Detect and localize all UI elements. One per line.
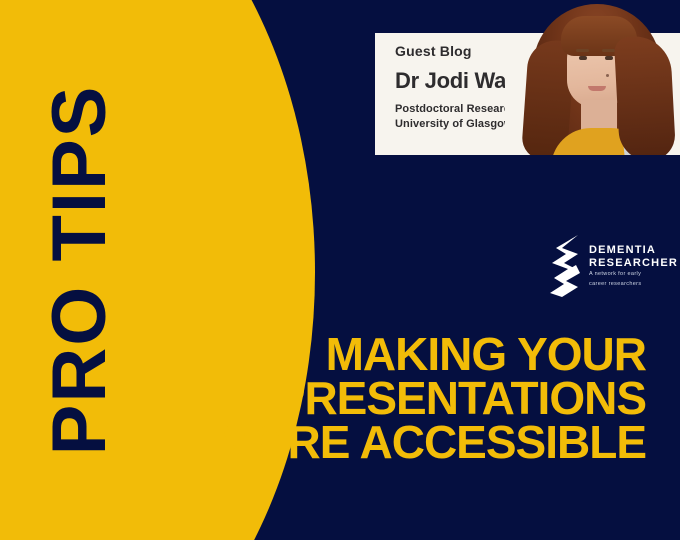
eyebrow-left [576, 49, 589, 52]
headline-block: MAKING YOUR PRESENTATIONS MORE ACCESSIBL… [120, 332, 646, 464]
eye-right [605, 56, 613, 60]
logo-word-dementia: DEMENTIA [589, 244, 678, 257]
eye-left [579, 56, 587, 60]
logo-tagline-line-2: career researchers [589, 280, 678, 288]
logo-tagline-line-1: A network for early [589, 270, 678, 278]
hair-right-shape [614, 35, 676, 155]
guest-author-photo [505, 0, 680, 155]
pro-tips-label: PRO TIPS [42, 85, 118, 456]
portrait-illustration [505, 0, 680, 155]
logo-word-researcher: RESEARCHER [589, 257, 678, 270]
headline-line-2: PRESENTATIONS [120, 376, 646, 420]
eyebrow-right [602, 49, 615, 52]
headline-line-1: MAKING YOUR [120, 332, 646, 376]
pro-tips-blog-banner: PRO TIPS Guest Blog Dr Jodi Watt Postdoc… [0, 0, 680, 540]
headline-line-3: MORE ACCESSIBLE [120, 420, 646, 464]
dementia-researcher-logo[interactable]: DEMENTIA RESEARCHER A network for early … [548, 233, 678, 299]
mouth-shape [588, 86, 606, 91]
logo-wordmark: DEMENTIA RESEARCHER A network for early … [589, 244, 678, 288]
beauty-mark [606, 74, 609, 77]
dementia-researcher-mark-icon [548, 235, 582, 297]
